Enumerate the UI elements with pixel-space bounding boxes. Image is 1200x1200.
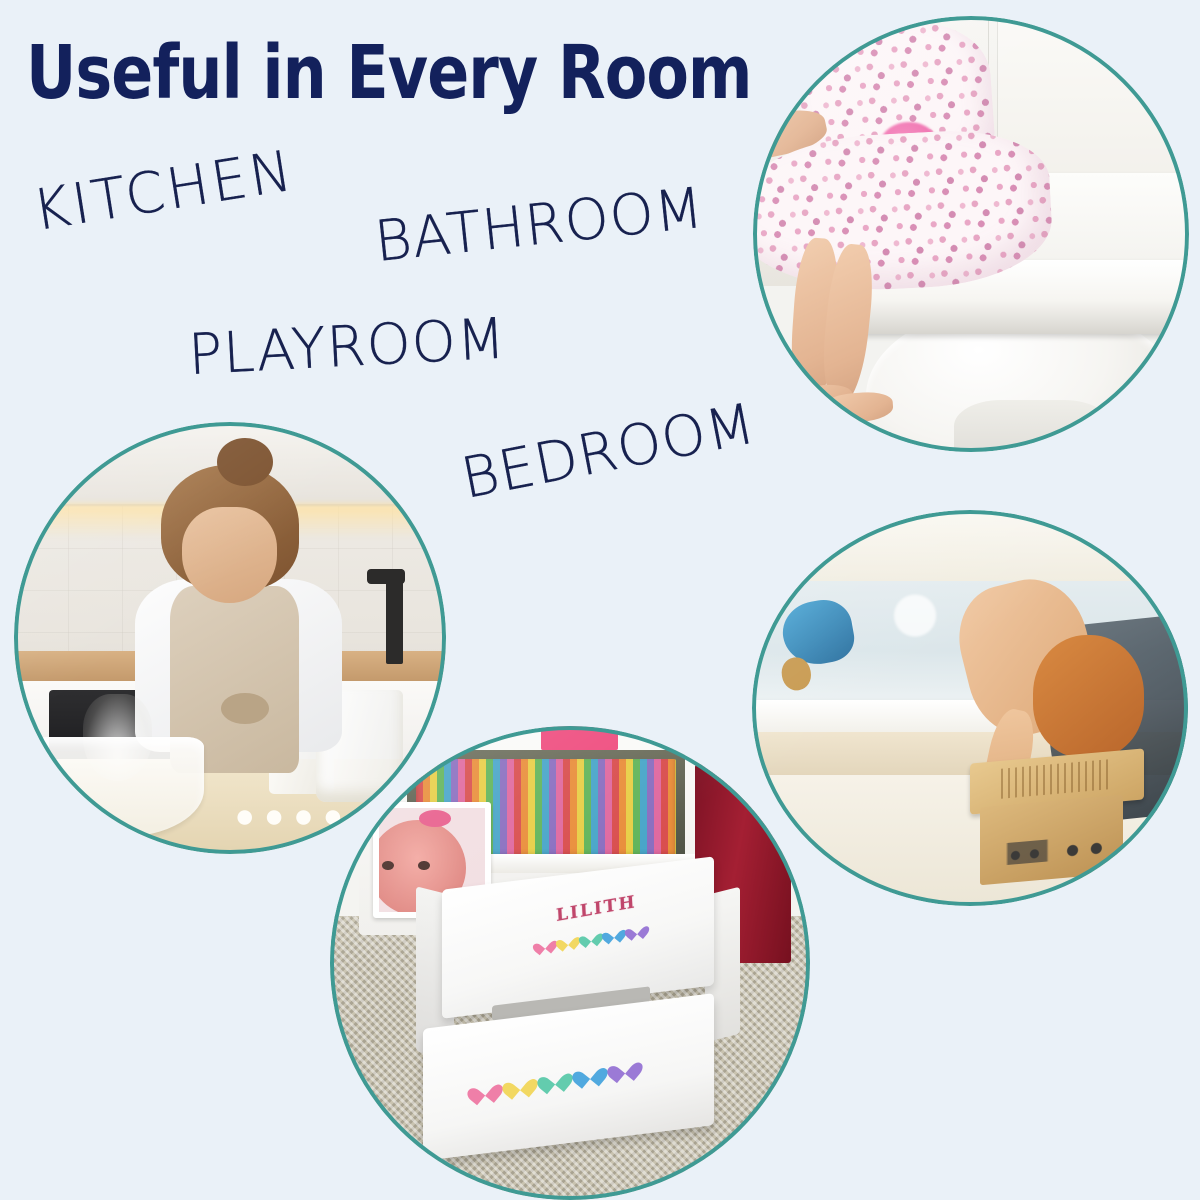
heart-icon [583,928,600,945]
hair-bow-icon [419,810,451,827]
heart-icon [578,1061,602,1086]
pink-marker [541,726,618,750]
heart-icon [605,924,622,941]
scene-bathtub [752,510,1188,906]
faucet-icon [386,569,403,664]
heart-icon [628,921,645,938]
bathroom-wall [752,510,1188,589]
room-label-playroom: PLAYROOM [187,311,507,384]
toddler-head [1033,635,1144,758]
photo-bathroom-tub [752,510,1188,906]
room-label-bathroom: BATHROOM [372,181,706,271]
wooden-step-stool [970,756,1144,891]
heart-icon [560,932,577,949]
room-label-bedroom: BEDROOM [457,396,760,508]
photo-bathroom-toilet [753,16,1189,452]
child-hair-bun [217,438,273,486]
heart-icon [508,1072,532,1097]
heart-icon [543,1066,567,1091]
heart-icon [613,1055,637,1080]
promo-image-canvas: Useful in Every Room KITCHEN BATHROOM PL… [0,0,1200,1200]
page-title: Useful in Every Room [26,36,752,110]
heart-icon [473,1077,497,1102]
heart-icon [537,935,554,952]
mixing-bowl [31,737,204,836]
room-label-kitchen: KITCHEN [29,143,298,240]
child-figure-toilet [753,25,1058,348]
photo-bedroom-stool: LILITH [330,726,810,1200]
scene-bedroom: LILITH [330,726,810,1200]
scene-bathroom-toilet [753,16,1189,452]
toilet-base [954,400,1111,452]
white-step-stool: LILITH [416,873,733,1167]
